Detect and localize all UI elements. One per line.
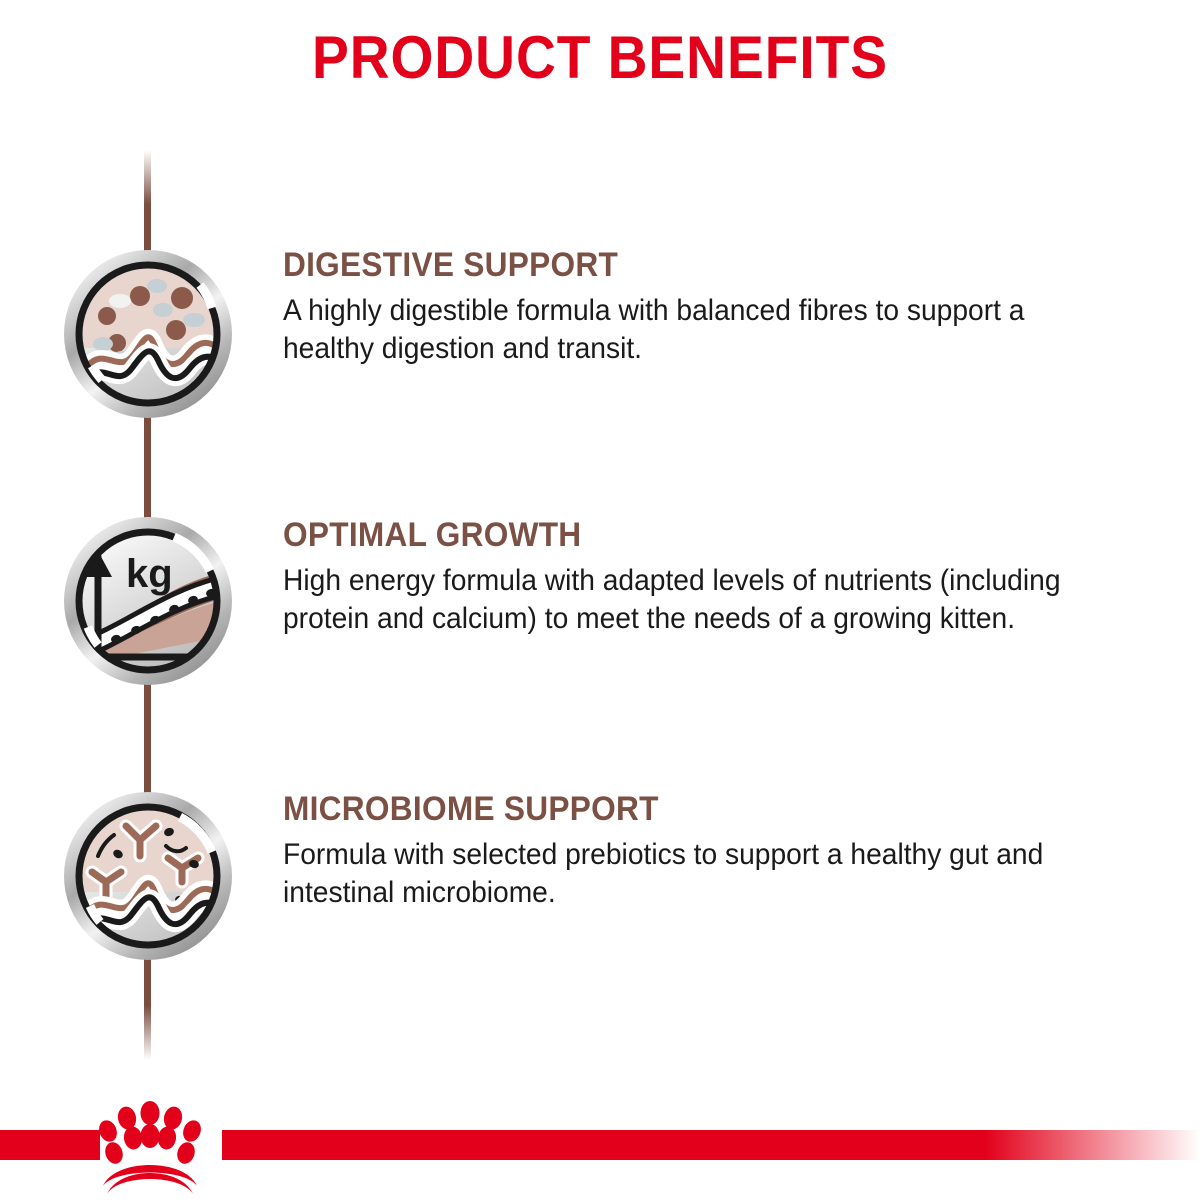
kg-label: kg: [126, 552, 173, 596]
benefit-heading: OPTIMAL GROWTH: [283, 518, 1101, 554]
royal-canin-crown-logo: [85, 1098, 215, 1198]
benefit-body: High energy formula with adapted levels …: [283, 562, 1110, 639]
benefit-text-microbiome-support: MICROBIOME SUPPORT Formula with selected…: [283, 792, 1163, 912]
benefit-text-optimal-growth: OPTIMAL GROWTH High energy formula with …: [283, 518, 1163, 638]
benefit-heading: DIGESTIVE SUPPORT: [283, 248, 1101, 284]
digestive-support-icon: [62, 248, 234, 420]
benefits-list: DIGESTIVE SUPPORT A highly digestible fo…: [0, 0, 1200, 1200]
benefit-body: A highly digestible formula with balance…: [283, 292, 1110, 369]
footer-bar-right: [222, 1130, 1200, 1160]
optimal-growth-icon: kg: [62, 515, 234, 687]
benefit-body: Formula with selected prebiotics to supp…: [283, 836, 1110, 913]
benefit-heading: MICROBIOME SUPPORT: [283, 792, 1101, 828]
microbiome-support-icon: [62, 790, 234, 962]
benefit-text-digestive-support: DIGESTIVE SUPPORT A highly digestible fo…: [283, 248, 1163, 368]
